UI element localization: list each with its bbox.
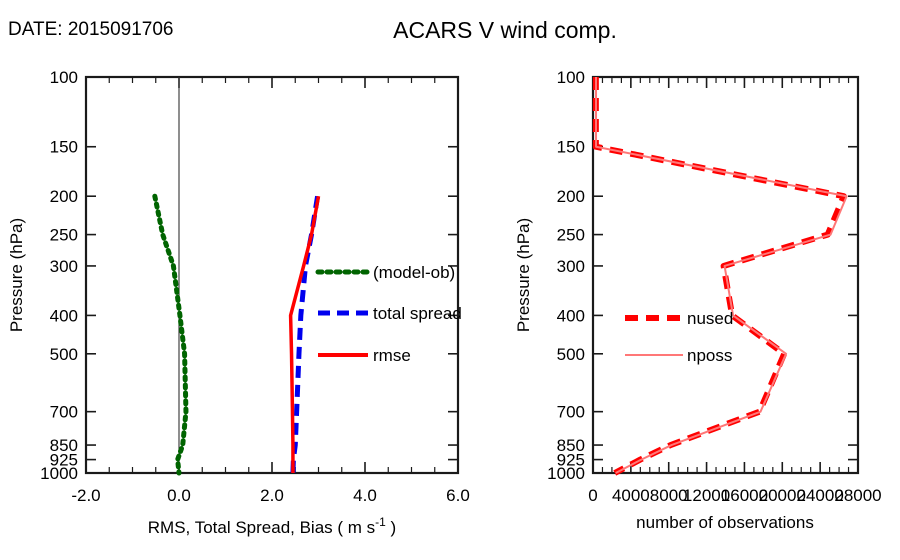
- legend-label-total-spread: total spread: [373, 304, 462, 323]
- chart-page: DATE: 2015091706 ACARS V wind comp. 1001…: [0, 0, 900, 560]
- y-tick-label: 200: [557, 187, 585, 206]
- x-tick-label: -2.0: [71, 486, 100, 505]
- left-y-axis-title: Pressure (hPa): [7, 218, 26, 332]
- left-x-axis-title: RMS, Total Spread, Bias ( m s-1 ): [148, 515, 396, 537]
- date-label: DATE: 2015091706: [8, 19, 174, 40]
- x-tick-label: 2.0: [260, 486, 284, 505]
- right-x-tick-labels: 0400080001200016000200002400028000: [588, 486, 881, 505]
- y-tick-label: 700: [557, 403, 585, 422]
- y-tick-label: 500: [557, 345, 585, 364]
- y-tick-label: 100: [50, 68, 78, 87]
- series-total-spread: [293, 196, 318, 473]
- left-x-axis-title-main: RMS, Total Spread, Bias ( m s: [148, 518, 375, 537]
- legend-label-nused: nused: [687, 309, 733, 328]
- x-tick-label: 0.0: [167, 486, 191, 505]
- legend-label-rmse: rmse: [373, 346, 411, 365]
- left-x-axis-title-tail: ): [386, 518, 396, 537]
- y-tick-label: 400: [50, 306, 78, 325]
- left-x-axis-title-superscript: -1: [375, 515, 386, 529]
- x-tick-label: 4000: [612, 486, 650, 505]
- left-panel: 1001502002503004005007008509251000 -2.00…: [7, 68, 470, 537]
- y-tick-label: 1000: [547, 464, 585, 483]
- y-tick-label: 500: [50, 345, 78, 364]
- right-legend: nused nposs: [625, 309, 733, 365]
- right-series-group: [596, 77, 847, 473]
- series-nposs: [596, 77, 847, 473]
- right-y-axis-title: Pressure (hPa): [514, 218, 533, 332]
- y-tick-label: 400: [557, 306, 585, 325]
- legend-label-bias: (model-ob): [373, 263, 455, 282]
- y-tick-label: 100: [557, 68, 585, 87]
- right-panel: 1001502002503004005007008509251000 04000…: [514, 68, 882, 532]
- left-y-tick-labels: 1001502002503004005007008509251000: [40, 68, 78, 483]
- y-tick-label: 700: [50, 403, 78, 422]
- series-nused: [596, 77, 844, 473]
- x-tick-label: 0: [588, 486, 597, 505]
- series--model-ob-: [155, 196, 186, 473]
- chart-canvas: DATE: 2015091706 ACARS V wind comp. 1001…: [0, 0, 900, 560]
- x-tick-label: 6.0: [446, 486, 470, 505]
- left-legend: (model-ob) total spread rmse: [318, 263, 462, 365]
- right-y-tick-labels: 1001502002503004005007008509251000: [547, 68, 585, 483]
- legend-label-nposs: nposs: [687, 346, 732, 365]
- left-x-tick-labels: -2.00.02.04.06.0: [71, 486, 469, 505]
- page-title: ACARS V wind comp.: [393, 17, 617, 43]
- y-tick-label: 250: [50, 226, 78, 245]
- y-tick-label: 150: [557, 138, 585, 157]
- y-tick-label: 250: [557, 226, 585, 245]
- y-tick-label: 1000: [40, 464, 78, 483]
- x-tick-label: 4.0: [353, 486, 377, 505]
- y-tick-label: 300: [557, 257, 585, 276]
- y-tick-label: 150: [50, 138, 78, 157]
- y-tick-label: 200: [50, 187, 78, 206]
- y-tick-label: 300: [50, 257, 78, 276]
- x-tick-label: 28000: [834, 486, 881, 505]
- right-x-axis-title: number of observations: [636, 513, 814, 532]
